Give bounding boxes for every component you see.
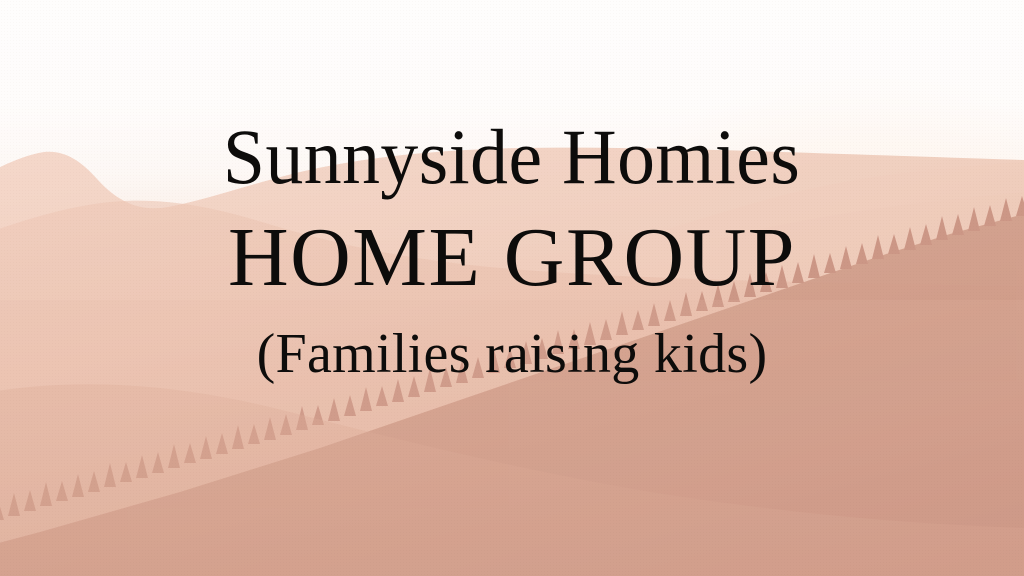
group-name-title: Sunnyside Homies (223, 118, 800, 196)
title-slide: Sunnyside Homies HOME GROUP (Families ra… (0, 0, 1024, 576)
audience-tagline: (Families raising kids) (257, 326, 768, 382)
home-group-subtitle: HOME GROUP (228, 216, 796, 300)
title-text-block: Sunnyside Homies HOME GROUP (Families ra… (0, 0, 1024, 576)
